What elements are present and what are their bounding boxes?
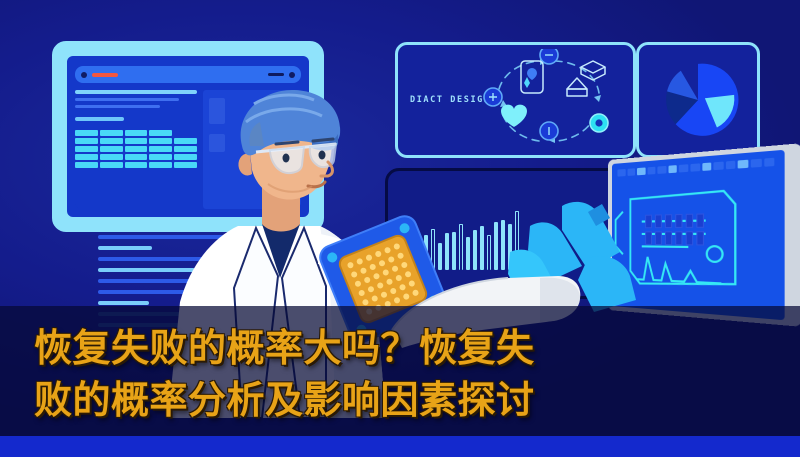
content-line xyxy=(75,105,160,108)
table-cell xyxy=(125,130,148,136)
text-line xyxy=(98,246,152,250)
content-heading-line xyxy=(75,117,124,121)
pie-chart-icon xyxy=(655,57,741,143)
browser-toolbar xyxy=(75,66,301,83)
browser-close-icon xyxy=(289,72,295,78)
table-cell xyxy=(75,146,98,152)
table-cell xyxy=(100,130,123,136)
table-cell xyxy=(125,162,148,168)
table-cell xyxy=(75,154,98,160)
table-cell xyxy=(100,138,123,144)
table-cell xyxy=(100,154,123,160)
pie-chart-panel xyxy=(636,42,760,158)
table-cell xyxy=(75,130,98,136)
table-cell xyxy=(125,154,148,160)
table-cell xyxy=(125,146,148,152)
table-cell xyxy=(75,162,98,168)
text-line xyxy=(98,301,149,305)
bottom-color-strip xyxy=(0,436,800,457)
illustration-canvas: DIACT DESIGN xyxy=(0,0,800,457)
browser-menu-icon xyxy=(268,73,284,76)
browser-address-bar xyxy=(92,73,118,77)
browser-dot-icon xyxy=(81,72,87,78)
title-overlay-band xyxy=(0,306,800,436)
table-cell xyxy=(125,138,148,144)
table-cell xyxy=(100,146,123,152)
table-cell xyxy=(75,138,98,144)
table-cell xyxy=(100,162,123,168)
